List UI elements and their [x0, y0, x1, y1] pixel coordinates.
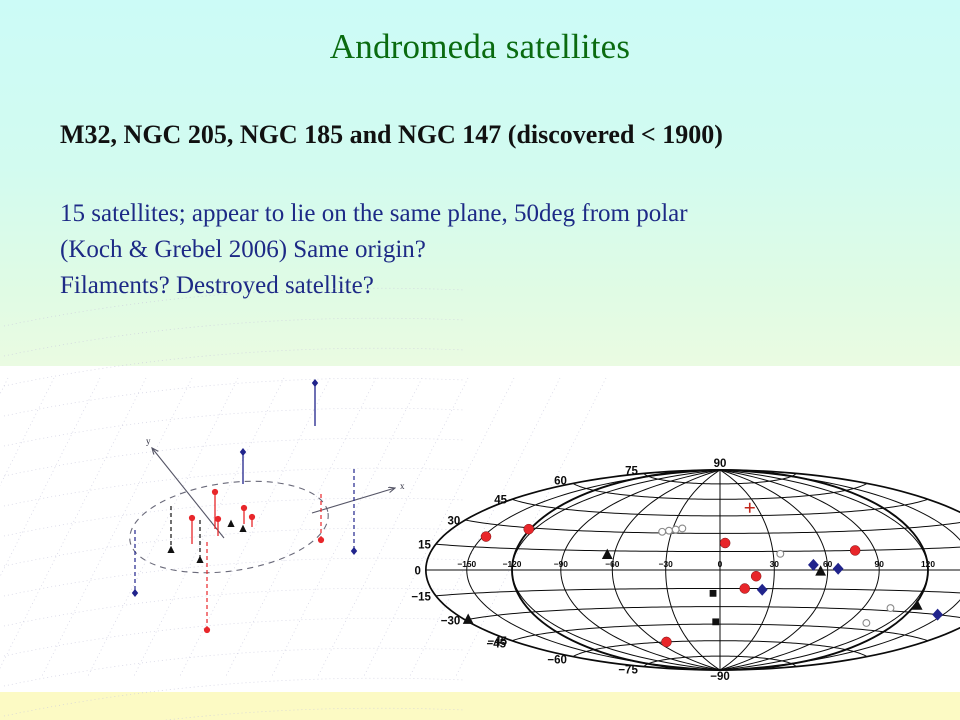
marker-filled-square: [712, 618, 719, 625]
marker-circle: [318, 537, 324, 543]
grid-line-b: [4, 468, 464, 506]
grid-line-b: [4, 618, 464, 656]
satellite-point-3d: [167, 506, 174, 553]
marker-plus: [745, 503, 755, 513]
lat-tick-label: −30: [441, 615, 461, 627]
grid-line-b: [4, 648, 464, 686]
axis-x-label: x: [400, 481, 405, 491]
lon-tick-label: 90: [875, 559, 885, 569]
grid-line-a: [318, 378, 468, 676]
lat-tick-label: −60: [547, 655, 567, 667]
satellite-point-3d: [189, 515, 195, 544]
marker-filled-diamond: [833, 563, 844, 575]
grid-line-b: [4, 408, 464, 446]
marker-circle: [215, 516, 221, 522]
marker-circle: [249, 514, 255, 520]
grid-line-a: [180, 378, 330, 676]
marker-filled-circle: [720, 538, 730, 548]
marker-filled-diamond: [808, 559, 819, 571]
marker-triangle: [167, 546, 174, 553]
lat-tick-label: −90: [710, 671, 730, 683]
marker-filled-circle: [751, 571, 761, 581]
grid-line-b: [4, 528, 464, 566]
grid-line-a: [272, 378, 422, 676]
lat-tick-label: −15: [411, 591, 431, 603]
marker-filled-diamond: [932, 609, 943, 621]
lon-tick-label: −120: [503, 559, 522, 569]
grid-line-a: [42, 378, 192, 676]
marker-filled-triangle: [912, 599, 923, 609]
marker-circle: [212, 489, 218, 495]
marker-circle: [241, 505, 247, 511]
lat-tick-label: −75: [618, 665, 638, 677]
marker-filled-diamond: [757, 584, 768, 596]
grid-line-b: [4, 498, 464, 536]
marker-filled-circle: [524, 524, 534, 534]
marker-open-circle: [887, 605, 894, 612]
lon-tick-label: −90: [554, 559, 569, 569]
slide-canvas: Andromeda satellites M32, NGC 205, NGC 1…: [0, 0, 960, 720]
grid-parallel: [436, 544, 960, 551]
series-black-filled-squares: [710, 590, 719, 625]
marker-diamond: [351, 547, 357, 555]
grid-line-b: [4, 588, 464, 626]
satellite-point-3d: [212, 489, 218, 529]
grid-parallel: [465, 520, 960, 533]
svg-3d-plot: yx: [24, 372, 454, 684]
lat-tick-label: 75: [625, 465, 638, 477]
lon-tick-label: 0: [718, 559, 723, 569]
lat-tick-label: 90: [714, 458, 727, 470]
lon-tick-label: 30: [770, 559, 780, 569]
marker-open-circle: [679, 525, 686, 532]
grid-line-b: [4, 378, 464, 416]
lat-tick-label: 0: [414, 565, 420, 577]
lat-tick-label: 30: [447, 515, 460, 527]
marker-open-circle: [659, 528, 666, 535]
figure-aitoff-sky-map: −150−120−90−60−3003060901201501804530150…: [494, 452, 946, 690]
axis-y-label: y: [146, 436, 151, 446]
marker-diamond: [312, 379, 318, 387]
lon-tick-label: −150: [457, 559, 476, 569]
satellite-point-3d: [241, 505, 247, 524]
page-title: Andromeda satellites: [0, 26, 960, 68]
satellite-point-3d: [132, 530, 138, 597]
satellite-point-3d: [240, 448, 246, 484]
satellite-point-3d: [351, 469, 357, 555]
aitoff-root: −150−120−90−60−3003060901201501804530150…: [411, 458, 960, 683]
marker-open-circle: [863, 620, 870, 627]
body-line-3: Filaments? Destroyed satellite?: [60, 268, 688, 304]
lon-tick-label: −60: [605, 559, 620, 569]
marker-filled-circle: [740, 583, 750, 593]
body-line-1: 15 satellites; appear to lie on the same…: [60, 196, 688, 232]
series-red-filled-circles: [481, 524, 860, 647]
figure-3d-satellite-distribution: yx: [24, 372, 454, 684]
lat-tick-label: −45: [486, 639, 506, 651]
marker-filled-square: [710, 590, 717, 597]
marker-filled-triangle: [602, 549, 613, 559]
body-line-2: (Koch & Grebel 2006) Same origin?: [60, 232, 688, 268]
marker-diamond: [132, 589, 138, 597]
lat-tick-label: 15: [418, 540, 431, 552]
lat-tick-label: 45: [494, 495, 507, 507]
background-footer-band: [0, 692, 960, 720]
series-open-circles: [659, 525, 894, 626]
grid-line-b: [4, 558, 464, 596]
marker-circle: [189, 515, 195, 521]
svg-aitoff-projection: −150−120−90−60−3003060901201501804530150…: [494, 452, 946, 690]
marker-open-circle: [666, 527, 673, 534]
marker-filled-circle: [850, 545, 860, 555]
lon-tick-label: 60: [823, 559, 833, 569]
satellite-point-3d: [239, 525, 246, 532]
satellite-point-3d: [312, 379, 318, 426]
marker-triangle: [227, 520, 234, 527]
marker-circle: [204, 627, 210, 633]
satellite-point-3d: [196, 520, 203, 563]
lon-tick-label: 120: [921, 559, 935, 569]
marker-triangle: [196, 556, 203, 563]
grid-parallel: [436, 588, 960, 595]
slide-subtitle: M32, NGC 205, NGC 185 and NGC 147 (disco…: [60, 118, 723, 152]
lon-tick-label: −30: [659, 559, 674, 569]
satellite-point-3d: [204, 542, 210, 633]
series-red-cross: [745, 503, 755, 513]
satellite-point-3d: [227, 520, 234, 527]
marker-filled-circle: [481, 532, 491, 542]
satellite-point-3d: [249, 514, 255, 527]
grid-parallel: [465, 607, 960, 620]
lat-tick-label: 60: [554, 475, 567, 487]
marker-diamond: [240, 448, 246, 456]
marker-open-circle: [777, 550, 784, 557]
marker-triangle: [239, 525, 246, 532]
marker-open-circle: [672, 526, 679, 533]
marker-filled-circle: [661, 637, 671, 647]
slide-body-text: 15 satellites; appear to lie on the same…: [60, 196, 688, 304]
grid-line-b: [4, 438, 464, 476]
